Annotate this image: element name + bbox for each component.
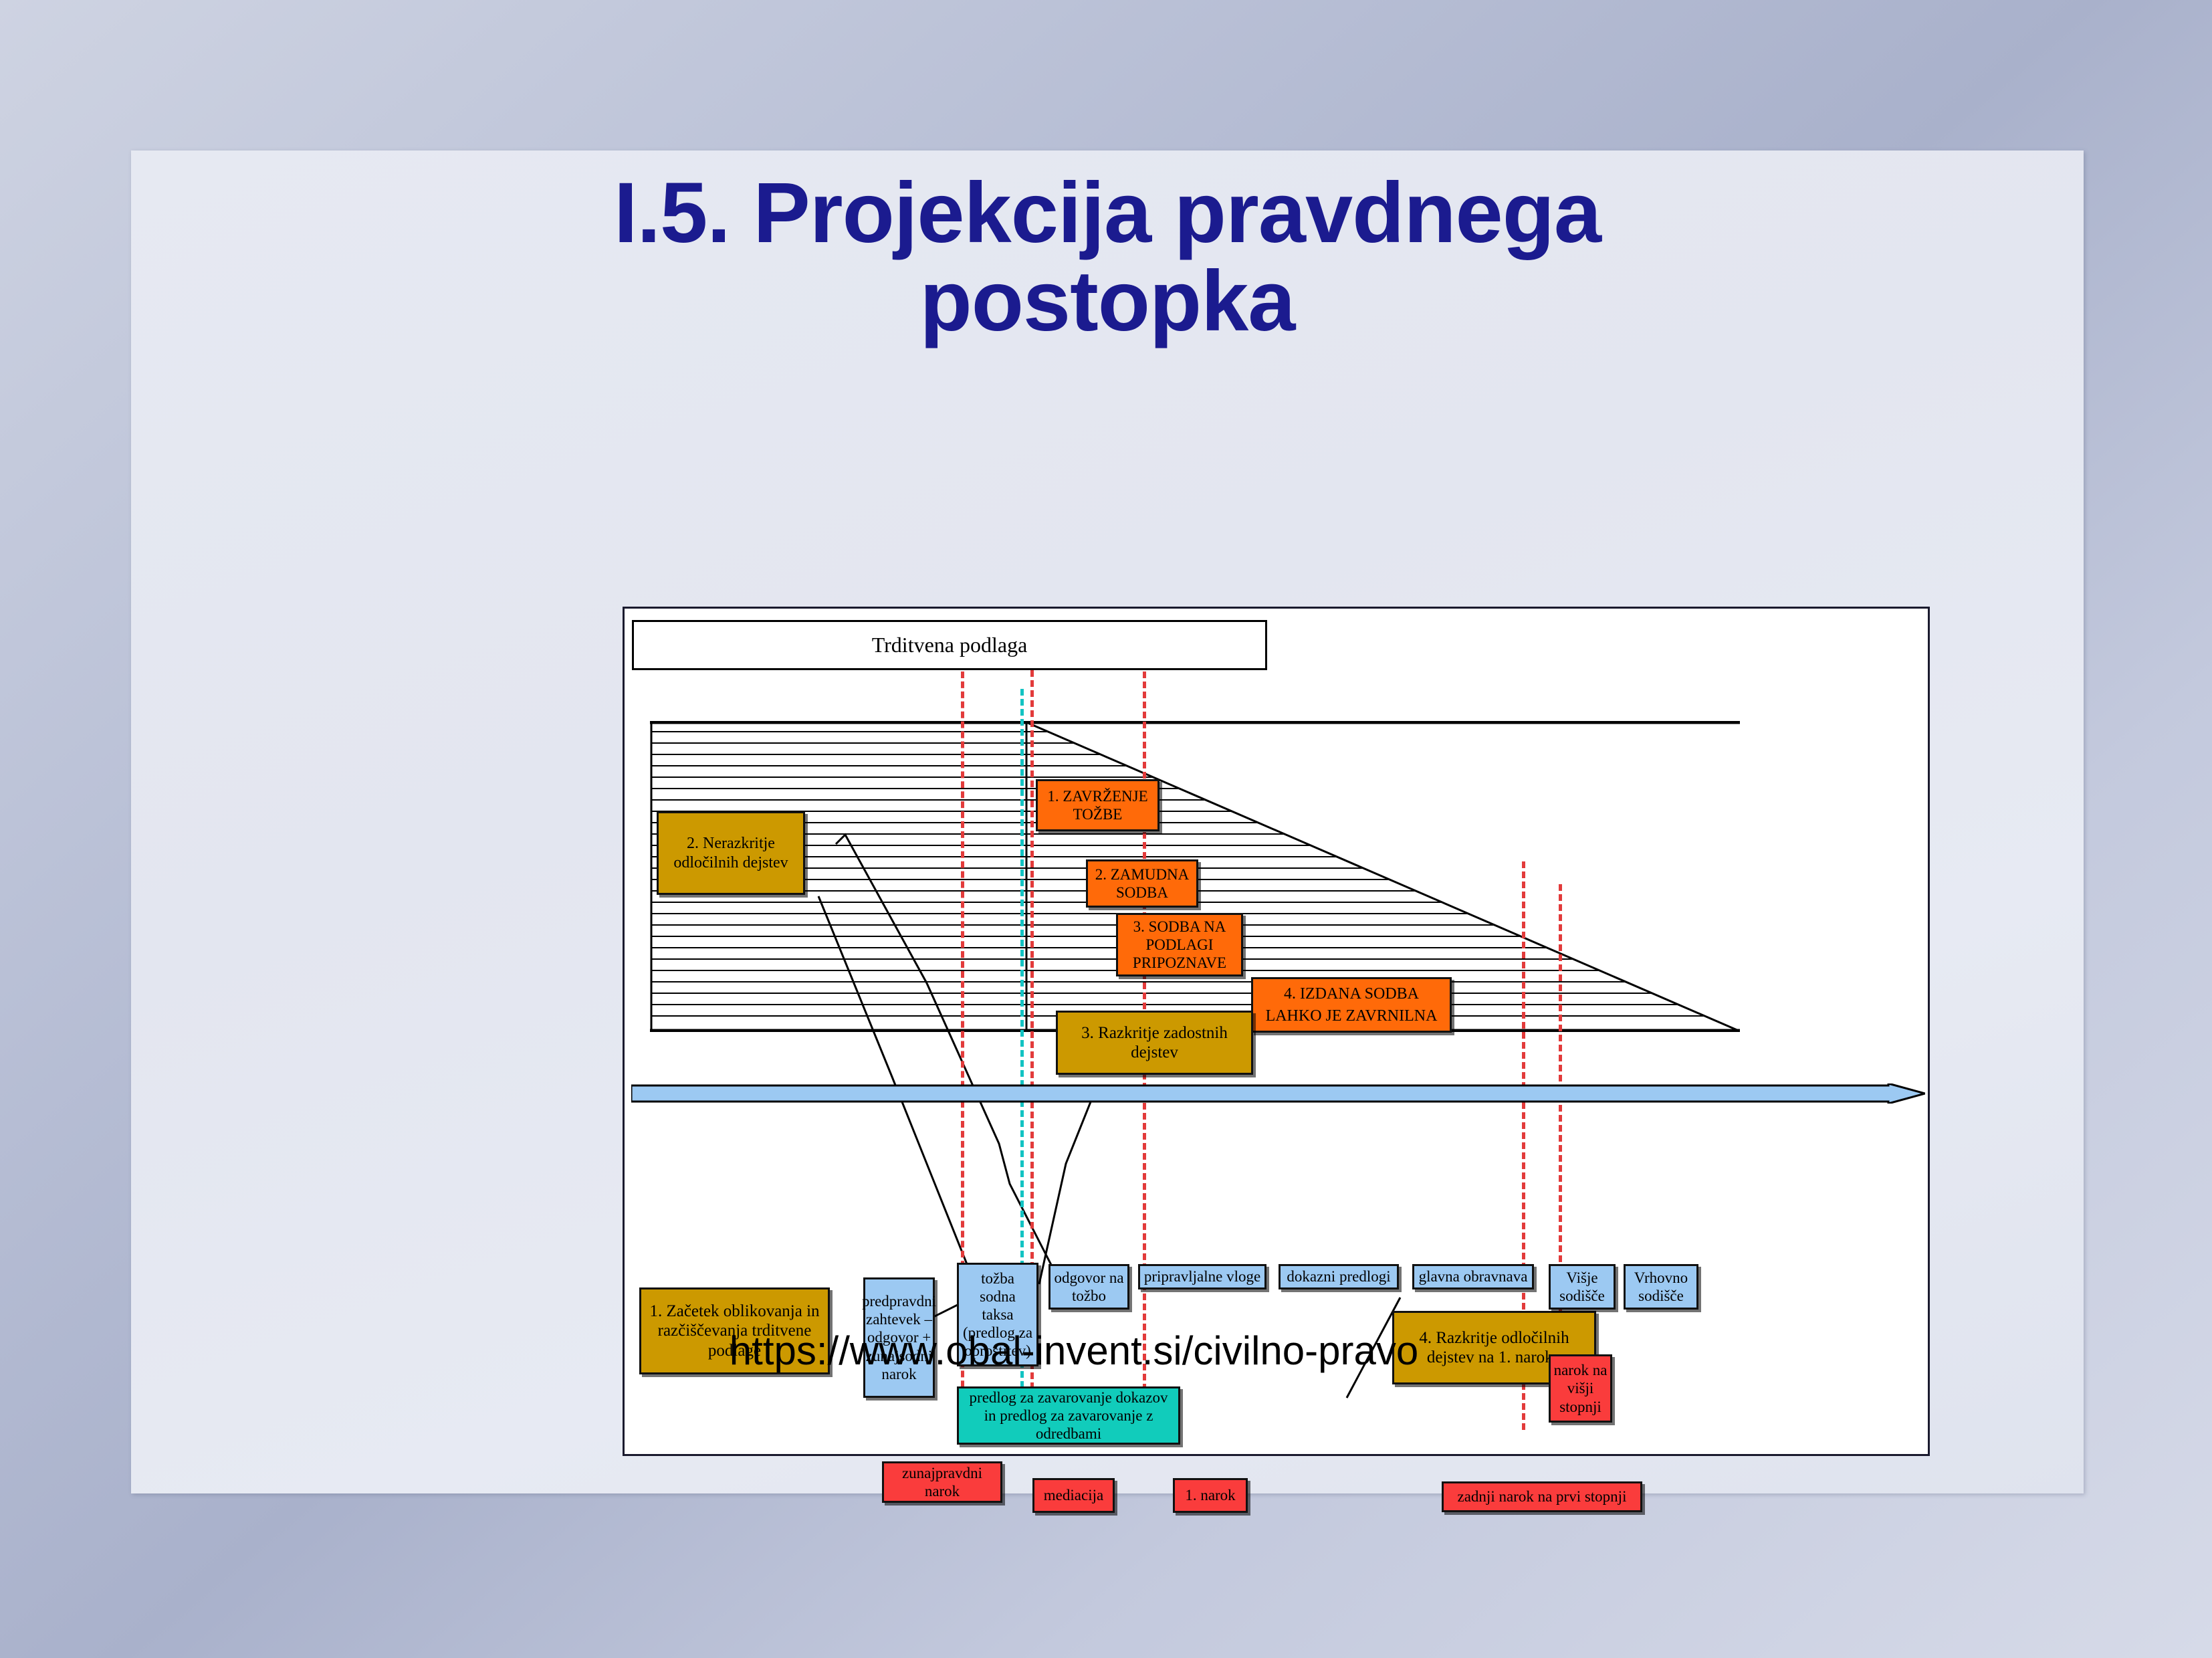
box-glavna-obravnava[interactable]: glavna obravnava — [1412, 1264, 1534, 1289]
box-prvi-narok[interactable]: 1. narok — [1173, 1478, 1248, 1513]
box-odgovor-na-tozbo[interactable]: odgovor na tožbo — [1048, 1264, 1129, 1310]
box-zavrzenje-tozbe[interactable]: 1. ZAVRŽENJE TOŽBE — [1036, 779, 1159, 831]
box-prvi-narok-label: 1. narok — [1185, 1486, 1235, 1504]
box-dokazni-predlogi-label: dokazni predlogi — [1287, 1267, 1390, 1285]
box-dokazni-predlogi[interactable]: dokazni predlogi — [1279, 1264, 1399, 1289]
box-zavrzenje-tozbe-label: 1. ZAVRŽENJE TOŽBE — [1042, 787, 1153, 823]
page-title-line2: postopka — [131, 257, 2084, 346]
page-title-line1: I.5. Projekcija pravdnega — [131, 169, 2084, 257]
box-zamudna-sodba[interactable]: 2. ZAMUDNA SODBA — [1086, 859, 1198, 908]
box-razkritje-zadostnih[interactable]: 3. Razkritje zadostnih dejstev — [1056, 1011, 1253, 1075]
box-zamudna-sodba-label: 2. ZAMUDNA SODBA — [1092, 865, 1192, 902]
box-vrhovno-sodisce[interactable]: Vrhovno sodišče — [1624, 1264, 1698, 1310]
box-zunajpravdni-narok[interactable]: zunajpravdni narok — [882, 1461, 1002, 1503]
box-nerazkritje[interactable]: 2. Nerazkritje odločilnih dejstev — [657, 811, 805, 895]
box-razkritje-zadostnih-label: 3. Razkritje zadostnih dejstev — [1065, 1023, 1244, 1063]
box-mediacija[interactable]: mediacija — [1032, 1478, 1115, 1513]
box-pripravljalne-vloge-label: pripravljalne vloge — [1144, 1267, 1260, 1285]
box-glavna-obravnava-label: glavna obravnava — [1419, 1267, 1528, 1285]
box-izdana-sodba-label: 4. IZDANA SODBA — [1284, 985, 1419, 1003]
box-zunajpravdni-narok-label: zunajpravdni narok — [887, 1464, 997, 1500]
box-izdana-sodba[interactable]: 4. IZDANA SODBA LAHKO JE ZAVRNILNA — [1251, 977, 1452, 1033]
box-pripravljaln-vloge[interactable]: pripravljalne vloge — [1138, 1264, 1266, 1289]
box-visje-sodisce[interactable]: Višje sodišče — [1549, 1264, 1616, 1310]
source-url: https://www.obal-invent.si/civilno-pravo — [98, 1328, 2050, 1374]
diagram-header-box: Trditvena podlaga — [632, 620, 1267, 670]
box-sodba-pripoznava-label: 3. SODBA NA PODLAGI PRIPOZNAVE — [1122, 918, 1237, 972]
timeline-arrow — [631, 1083, 1925, 1104]
box-zadnji-narok-label: zadnji narok na prvi stopnji — [1458, 1487, 1627, 1506]
box-zavarovanje-dokazov-label: predlog za zavarovanje dokazov in predlo… — [964, 1388, 1173, 1443]
box-zadnji-narok[interactable]: zadnji narok na prvi stopnji — [1442, 1481, 1642, 1512]
slide-panel: I.5. Projekcija pravdnega postopka Trdit… — [131, 150, 2084, 1493]
box-lahko-zavrnilna-label: LAHKO JE ZAVRNILNA — [1266, 1007, 1438, 1025]
box-visje-sodisce-label: Višje sodišče — [1554, 1269, 1610, 1305]
diagram-header-label: Trditvena podlaga — [872, 633, 1028, 657]
box-nerazkritje-label: 2. Nerazkritje odločilnih dejstev — [664, 834, 798, 872]
box-mediacija-label: mediacija — [1044, 1486, 1103, 1504]
box-zavarovanje-dokazov[interactable]: predlog za zavarovanje dokazov in predlo… — [957, 1386, 1180, 1445]
box-sodba-pripoznava[interactable]: 3. SODBA NA PODLAGI PRIPOZNAVE — [1116, 913, 1243, 976]
box-odgovor-na-tozbo-label: odgovor na tožbo — [1054, 1269, 1124, 1305]
page-title: I.5. Projekcija pravdnega postopka — [131, 169, 2084, 346]
box-vrhovno-sodisce-label: Vrhovno sodišče — [1629, 1269, 1693, 1305]
